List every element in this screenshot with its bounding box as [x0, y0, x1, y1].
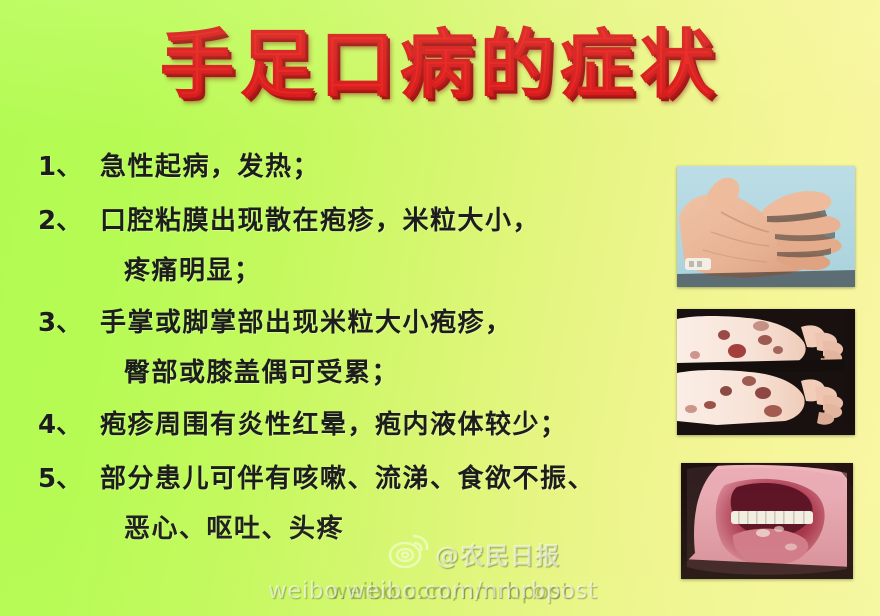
title-container: 手足口病的症状	[0, 22, 880, 108]
list-item-body: 手掌或脚掌部出现米粒大小疱疹， 臀部或膝盖偶可受累；	[100, 308, 678, 388]
list-item-text-continued: 疼痛明显；	[100, 256, 678, 286]
list-item-body: 急性起病，发热；	[100, 152, 678, 182]
list-item-text: 急性起病，发热；	[100, 152, 320, 182]
list-item-text: 口腔粘膜出现散在疱疹，米粒大小，	[100, 206, 540, 236]
weibo-url-watermark: weibo.weibo.com/nmrbpost	[268, 578, 597, 604]
list-item: 2、 口腔粘膜出现散在疱疹，米粒大小， 疼痛明显；	[38, 206, 678, 286]
list-item-body: 疱疹周围有炎性红晕，疱内液体较少；	[100, 410, 678, 440]
list-item-text: 手掌或脚掌部出现米粒大小疱疹，	[100, 308, 513, 338]
mouth-photo	[681, 463, 853, 579]
list-item-text: 部分患儿可伴有咳嗽、流涕、食欲不振、	[100, 464, 595, 494]
list-item-text: 疱疹周围有炎性红晕，疱内液体较少；	[100, 410, 568, 440]
list-item-text-continued: 臀部或膝盖偶可受累；	[100, 358, 678, 388]
list-item-number: 5、	[38, 464, 100, 494]
feet-soles-photo	[677, 309, 855, 435]
hand-palm-photo	[677, 166, 855, 287]
poster-root: 手足口病的症状 1、 急性起病，发热； 2、 口腔粘膜出现散在疱疹，米粒大小， …	[0, 0, 880, 616]
symptom-list: 1、 急性起病，发热； 2、 口腔粘膜出现散在疱疹，米粒大小， 疼痛明显； 3、…	[38, 152, 678, 544]
list-item-number: 1、	[38, 152, 100, 182]
weibo-handle-watermark: @农民日报	[435, 536, 560, 571]
page-title: 手足口病的症状	[160, 22, 720, 108]
list-item: 1、 急性起病，发热；	[38, 152, 678, 182]
weibo-eye-logo-icon	[383, 528, 431, 572]
list-item-number: 4、	[38, 410, 100, 440]
list-item-number: 2、	[38, 206, 100, 236]
list-item: 5、 部分患儿可伴有咳嗽、流涕、食欲不振、 恶心、呕吐、头疼	[38, 464, 678, 544]
list-item-body: 口腔粘膜出现散在疱疹，米粒大小， 疼痛明显；	[100, 206, 678, 286]
list-item: 4、 疱疹周围有炎性红晕，疱内液体较少；	[38, 410, 678, 440]
list-item: 3、 手掌或脚掌部出现米粒大小疱疹， 臀部或膝盖偶可受累；	[38, 308, 678, 388]
list-item-number: 3、	[38, 308, 100, 338]
